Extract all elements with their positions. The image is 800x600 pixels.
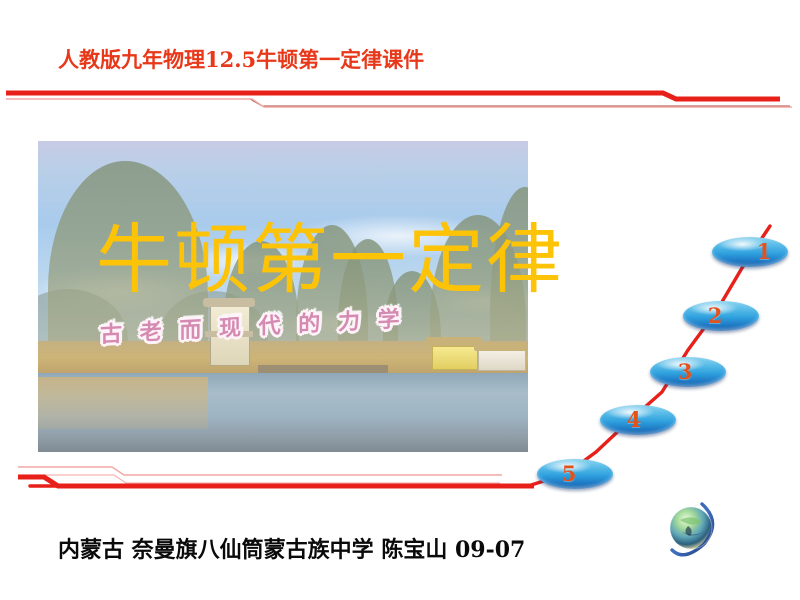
picture-headline-wordart: 牛顿第一定律: [96, 222, 564, 298]
slide-canvas: 人教版九年物理12.5牛顿第一定律课件 古 老 而 现 代 的 力 学 牛顿第一: [0, 0, 800, 600]
header-decor-rules: [0, 82, 800, 116]
step-bubble-2-label: 2: [708, 303, 723, 328]
picture-house-roof-2: [474, 343, 528, 351]
page-title: 人教版九年物理12.5牛顿第一定律课件: [58, 44, 424, 74]
picture-house-white: [478, 349, 526, 371]
picture-house-yellow: [432, 346, 478, 370]
step-bubble-1-label: 1: [757, 239, 772, 264]
step-bubble-5[interactable]: 5: [537, 459, 613, 489]
step-bubble-5-label: 5: [562, 461, 577, 486]
step-bubble-4[interactable]: 4: [600, 405, 676, 435]
step-bubble-3[interactable]: 3: [650, 357, 726, 387]
globe-icon: [662, 498, 726, 562]
step-bubble-4-label: 4: [627, 407, 642, 432]
step-bubble-3-label: 3: [678, 359, 693, 384]
picture-river-glow: [38, 377, 208, 429]
step-bubble-2[interactable]: 2: [683, 301, 759, 331]
step-bubble-1[interactable]: 1: [712, 237, 788, 267]
footer-credit-text: 内蒙古 奈曼旗八仙筒蒙古族中学 陈宝山 09-07: [58, 532, 525, 564]
